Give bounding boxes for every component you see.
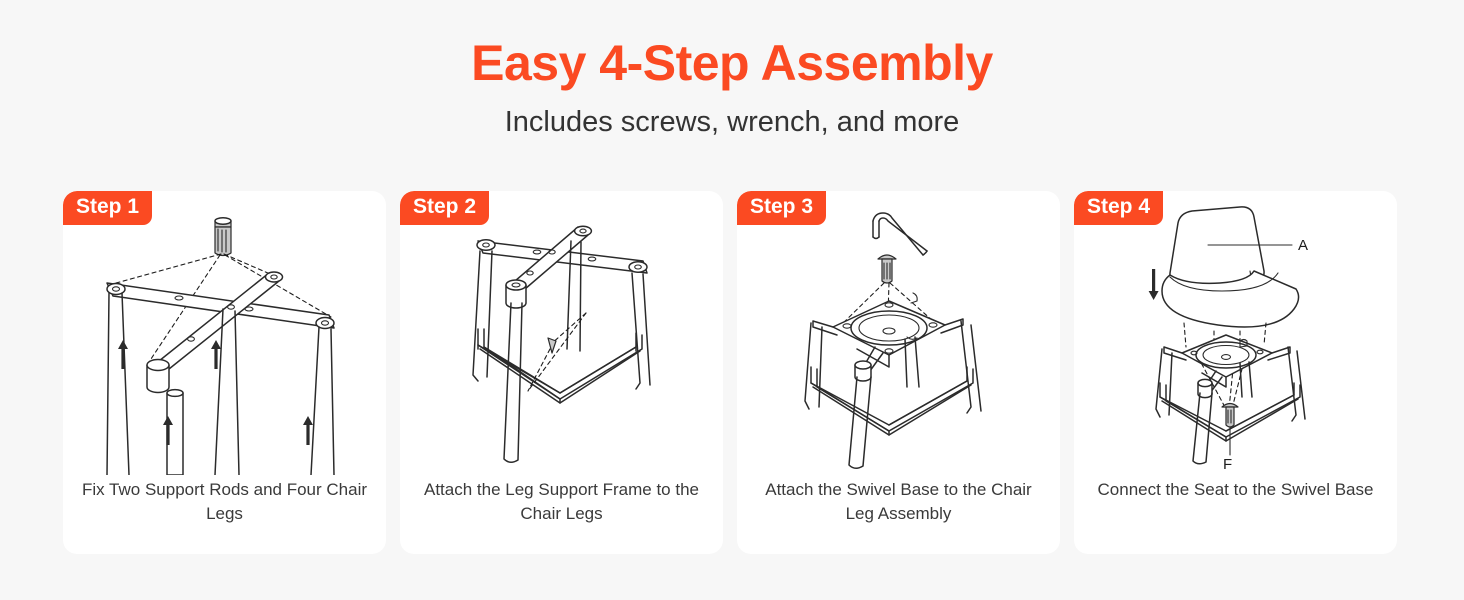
- step-caption-2: Attach the Leg Support Frame to the Chai…: [414, 478, 709, 526]
- screw-part-f-icon: [1222, 404, 1238, 428]
- label-f-text: F: [1223, 456, 1232, 473]
- step-caption-3: Attach the Swivel Base to the Chair Leg …: [751, 478, 1046, 526]
- label-a-text: A: [1298, 237, 1308, 254]
- hex-wrench-icon: [873, 213, 927, 255]
- chair-legs: [473, 241, 650, 462]
- step-1-illustration: [63, 197, 386, 475]
- screw-part-icon: [215, 218, 231, 256]
- step-badge-1: Step 1: [63, 191, 152, 225]
- step-badge-2: Step 2: [400, 191, 489, 225]
- support-rod-diagonal: [147, 272, 283, 393]
- step-card-1[interactable]: Step 1: [63, 191, 386, 554]
- step-2-illustration: [400, 197, 723, 475]
- leg-support-frame: [478, 329, 642, 403]
- header: Easy 4-Step Assembly Includes screws, wr…: [0, 0, 1464, 140]
- leg-support-frame: [811, 367, 973, 435]
- page-subtitle: Includes screws, wrench, and more: [0, 105, 1464, 140]
- direction-arrows: [118, 340, 313, 445]
- swivel-base-plate: [1164, 335, 1290, 398]
- assembly-infographic: Easy 4-Step Assembly Includes screws, wr…: [0, 0, 1464, 600]
- step-card-4[interactable]: Step 4 A: [1074, 191, 1397, 554]
- step-4-illustration: A: [1074, 197, 1397, 475]
- step-badge-4: Step 4: [1074, 191, 1163, 225]
- assembly-guide-lines: [528, 313, 586, 391]
- step-3-illustration: [737, 197, 1060, 475]
- step-caption-4: Connect the Seat to the Swivel Base: [1088, 478, 1383, 502]
- page-title: Easy 4-Step Assembly: [0, 36, 1464, 91]
- support-rod-diagonal: [506, 226, 591, 308]
- screw-part-icon: [878, 255, 896, 283]
- step-caption-1: Fix Two Support Rods and Four Chair Legs: [77, 478, 372, 526]
- step-card-2[interactable]: Step 2: [400, 191, 723, 554]
- direction-arrow-down: [1149, 269, 1159, 300]
- steps-row: Step 1: [63, 191, 1401, 554]
- step-card-3[interactable]: Step 3: [737, 191, 1060, 554]
- step-badge-3: Step 3: [737, 191, 826, 225]
- swivel-base-plate: [813, 293, 963, 381]
